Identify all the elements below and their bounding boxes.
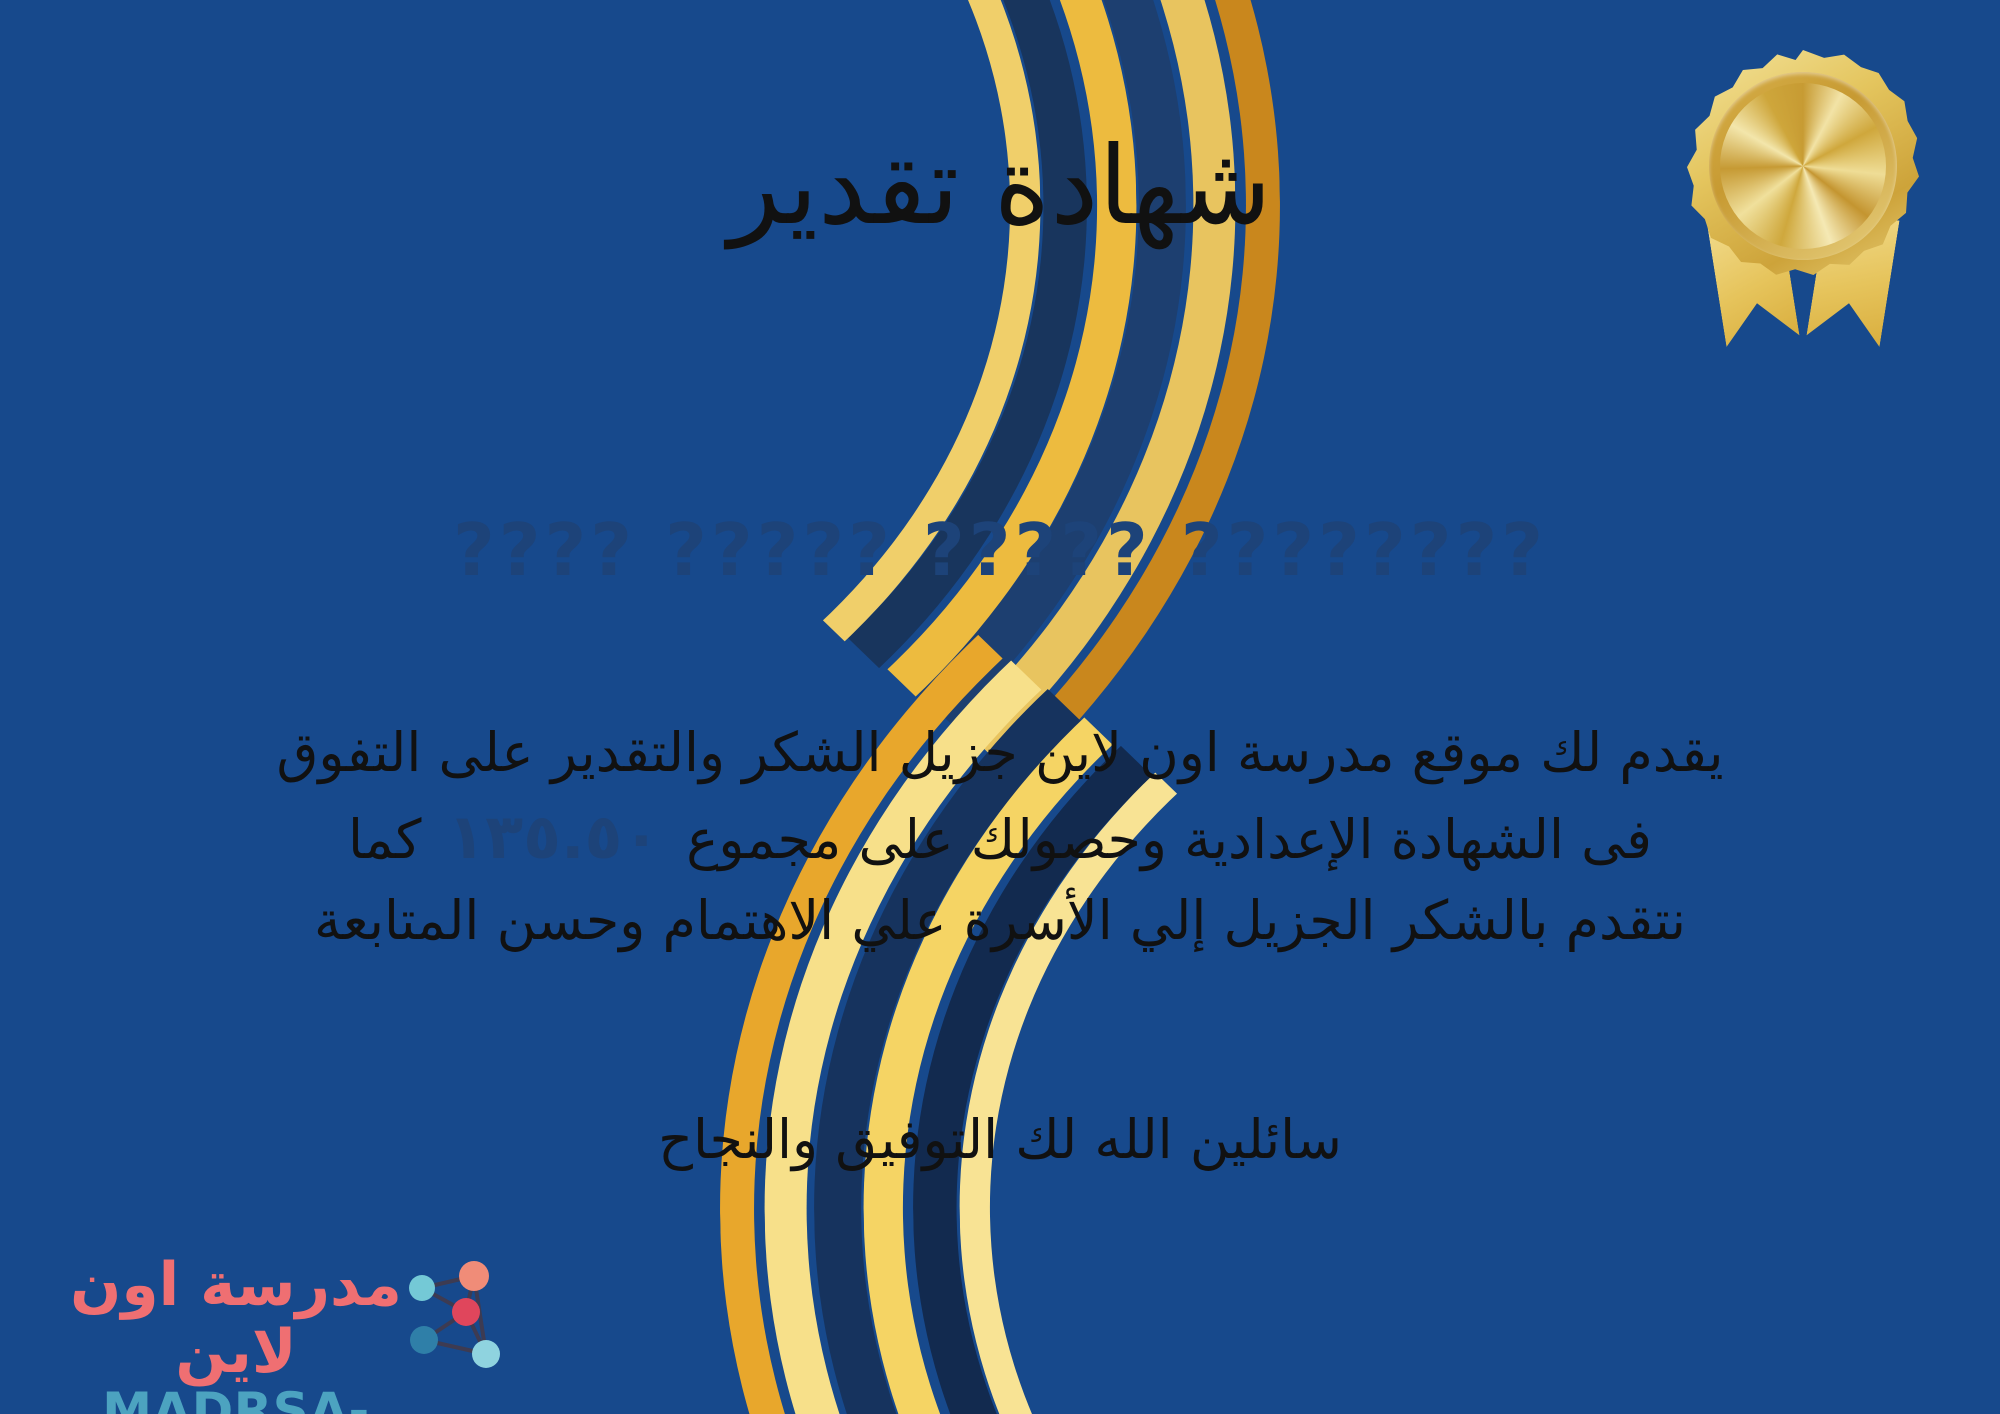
body-line-1: يقدم لك موقع مدرسة اون لاين جزيل الشكر و… (60, 714, 1940, 792)
body-line-3: نتقدم بالشكر الجزيل إلي الأسرة علي الاهت… (60, 882, 1940, 960)
closing-wish: سائلين الله لك التوفيق والنجاح (0, 1108, 2000, 1171)
certificate-body: يقدم لك موقع مدرسة اون لاين جزيل الشكر و… (60, 714, 1940, 960)
certificate-content: شهادة تقدير ???? ????? ????? ???????? يق… (0, 0, 2000, 1414)
brand-name-arabic: مدرسة اون لاين (40, 1252, 432, 1386)
certificate-canvas: شهادة تقدير ???? ????? ????? ???????? يق… (0, 0, 2000, 1414)
certificate-title: شهادة تقدير (0, 130, 2000, 243)
body-line-2-prefix: فى الشهادة الإعدادية وحصولك على مجموع (686, 808, 1652, 871)
brand-logo-text: مدرسة اون لاين MADRSA-ONLINE.COM (40, 1252, 432, 1414)
network-nodes-icon (400, 1260, 504, 1378)
brand-logo[interactable]: مدرسة اون لاين MADRSA-ONLINE.COM (34, 1252, 504, 1392)
body-line-2: فى الشهادة الإعدادية وحصولك على مجموع١٣٥… (60, 792, 1940, 882)
brand-domain: MADRSA-ONLINE.COM (40, 1386, 432, 1414)
body-line-2-suffix: كما (348, 808, 421, 871)
total-score-value: ١٣٥.٥٠ (421, 800, 686, 873)
recipient-name: ???? ????? ????? ???????? (0, 508, 2000, 592)
